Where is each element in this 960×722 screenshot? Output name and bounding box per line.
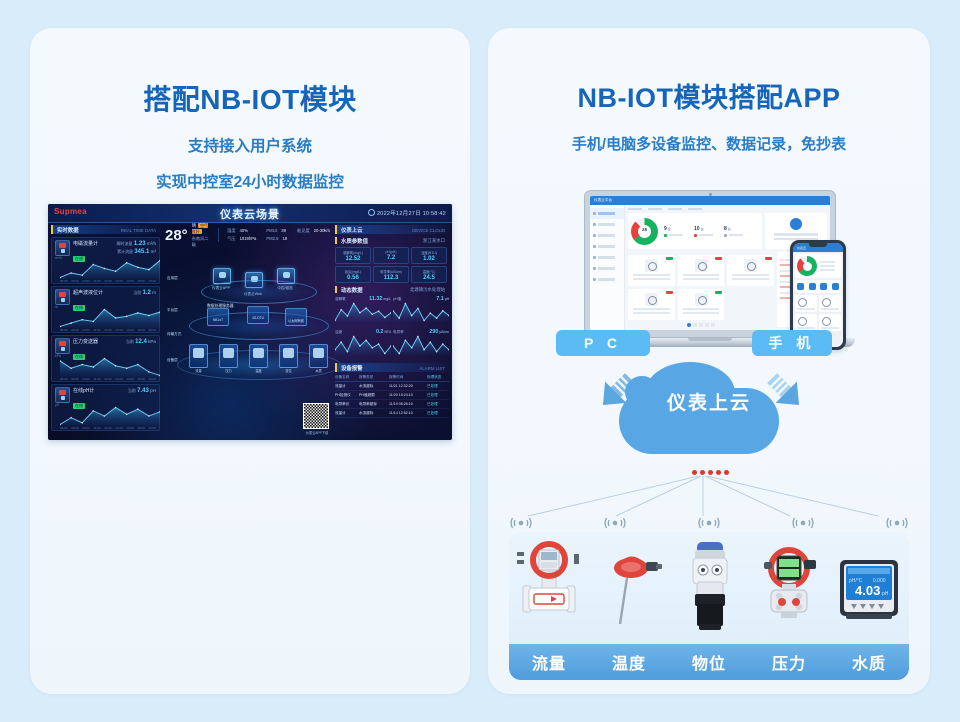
cloud-diagram: 仪表上云: [488, 364, 930, 514]
kpi-value: 9台: [664, 226, 683, 232]
dot: [692, 470, 697, 475]
table-cell: 流量计: [335, 411, 359, 416]
sidebar-item-label: [598, 245, 615, 247]
scene-field-device: 流量: [189, 344, 208, 368]
water-quality-reading: 4.03: [855, 583, 880, 598]
tab-placeholder[interactable]: [648, 208, 662, 210]
legend-label: [699, 234, 713, 236]
text-placeholder: [821, 327, 839, 329]
device-card[interactable]: 电磁流量计在线瞬时流量 1.23 m³/h累计流量 345.1 m³m³/h08…: [51, 237, 160, 284]
realtime-site: 北塘镇污水处理站: [410, 287, 445, 293]
weather-strip: 28° 晴空气良好 东南风二级 湿度40%气压1019hPaPM1039PM2.…: [165, 224, 330, 246]
table-cell: 已处理: [427, 402, 449, 407]
page-3[interactable]: [699, 323, 703, 327]
section-label: 仪表上云: [341, 226, 363, 234]
alarm-column-header: 报警时间: [389, 375, 427, 380]
table-cell: 已处理: [427, 411, 449, 416]
table-cell: 11/14 12:52:10: [389, 411, 427, 416]
scene-layer-label: 应用层: [167, 276, 178, 281]
device-thumbnail: [645, 259, 658, 272]
device-icon: [55, 240, 70, 256]
legend-swatch: [694, 234, 697, 237]
sidebar-item-label: [598, 267, 615, 269]
metric-value: 7.2: [374, 255, 408, 261]
phone-device-card[interactable]: [819, 314, 841, 331]
device-values: 瞬时流量 1.23 m³/h累计流量 345.1 m³: [117, 240, 156, 256]
phone-device-grid: [795, 295, 841, 331]
realtime-chart: 溶解氧11.32mg/L: [335, 296, 391, 327]
device-grid-row: [628, 255, 774, 286]
weather-metric: 能见度20-30km: [297, 227, 330, 235]
kpi-stat: 8台: [724, 226, 743, 237]
status-badge: [715, 291, 722, 294]
left-panel-subtitle-2: 实现中控室24小时数据监控: [30, 170, 470, 192]
alarm-column-header: 处理状态: [427, 375, 449, 380]
status-badge: [666, 291, 673, 294]
sidebar-item-label: [598, 256, 615, 258]
app-header-bar: 仪表云平台: [590, 196, 830, 205]
scene-chip-ethernet: 以太网有线: [285, 308, 307, 326]
page-5[interactable]: [711, 323, 715, 327]
water-quality-cell: 溶解氧(mg/L)12.52: [335, 247, 371, 264]
kpi-stats: 9台10台8台: [664, 226, 759, 237]
alarm-table-body: 流量计水流超标11/21 12:32:20已处理PH检测仪PH值超限11/20 …: [335, 382, 449, 418]
device-values: 当前 12.4 kPa: [126, 338, 156, 346]
device-illustration-flow: [509, 538, 589, 638]
section-label: 实时数据: [57, 226, 79, 234]
metric-label: 氨氮(mg/L): [336, 269, 370, 274]
right-panel-subtitle: 手机/电脑多设备监控、数据记录，免抄表: [488, 133, 930, 154]
device-label-temperature-sensor: 温度: [589, 650, 669, 674]
scene-field-device: 压力: [219, 344, 238, 368]
tab-placeholder[interactable]: [668, 208, 682, 210]
wifi-signal-icon: [510, 514, 532, 532]
device-card[interactable]: 压力变送器在线当前 12.4 kPakPa08:0009:0010:0011:0…: [51, 335, 160, 382]
qr-code: [303, 403, 329, 429]
device-illustrations: pH/°C 0.000 4.03 pH: [509, 538, 909, 638]
table-cell: PH值超限: [359, 393, 389, 398]
weather-metric: 湿度40%: [227, 227, 256, 235]
phone-notch: [809, 243, 827, 247]
metric-label: 电导率(uS/cm): [374, 269, 408, 274]
kpi-value: 8台: [724, 226, 743, 232]
alarm-column-header: 设备名称: [335, 375, 359, 380]
text-placeholder: [797, 327, 815, 329]
metric-value: 1.02: [412, 256, 446, 262]
water-quality-cell: pH(pH)7.2: [373, 247, 409, 264]
realtime-chart-row: 浊度0.2NTU电导率290μS/cm: [335, 329, 449, 360]
text-placeholder: [633, 278, 670, 280]
sidebar-item-0[interactable]: [590, 208, 624, 219]
water-quality-cell: 浊度(NTU)1.02: [411, 247, 447, 264]
weather-metric-group: 能见度20-30km: [297, 227, 330, 243]
left-feature-panel: 搭配NB-IOT模块 支持接入用户系统 实现中控室24小时数据监控 Supmea…: [30, 28, 470, 694]
pill-mobile[interactable]: 手 机: [752, 330, 832, 356]
alarm-table: 设备名称报警类型报警时间处理状态 流量计水流超标11/21 12:32:20已处…: [335, 375, 449, 418]
realtime-title: 动态数据: [341, 286, 363, 294]
dot: [708, 470, 713, 475]
section-sublabel: DEVICE CLOUD: [412, 228, 445, 233]
quick-action-icon[interactable]: [797, 283, 804, 290]
device-values: 当前 1.2 m: [133, 289, 156, 297]
device-card[interactable]: [678, 255, 725, 286]
device-trend-chart: kPa08:0009:0010:0011:0012:0013:0014:0015…: [55, 355, 156, 381]
text-placeholder: [797, 308, 815, 310]
left-panel-subtitle-1: 支持接入用户系统: [30, 134, 470, 156]
transport-label-2: 以太网有线: [287, 318, 305, 323]
water-quality-cell: 温度(℃)24.5: [411, 266, 447, 283]
metric-label: 浊度(NTU): [412, 250, 446, 255]
metric-value: 0.56: [336, 275, 370, 281]
weather-temperature: 28°: [165, 227, 188, 244]
alarm-column-header: 报警类型: [359, 375, 389, 380]
sidebar-item-5[interactable]: [590, 263, 624, 274]
weather-metrics: 湿度40%气压1019hPaPM1039PM2.518能见度20-30km: [227, 227, 330, 243]
text-placeholder: [774, 233, 818, 235]
sidebar-item-2[interactable]: [590, 230, 624, 241]
kpi-value: 10台: [694, 226, 713, 232]
architecture-scene: 仪表云APP 仪表云Web 中控/组态 数据处理服务器 NB-IoT 4G-DT…: [163, 246, 332, 440]
water-quality-header: 水质参数值 浙江某水口: [335, 237, 449, 244]
transport-label-1: 4G-DTU: [249, 316, 267, 320]
device-icon: [55, 387, 70, 403]
dashboard-center-column: 28° 晴空气良好 东南风二级 湿度40%气压1019hPaPM1039PM2.…: [163, 222, 332, 440]
realtime-chart-row: 溶解氧11.32mg/LpH值7.1pH: [335, 296, 449, 327]
sidebar-item-label: [598, 212, 615, 214]
table-cell: 电导率超标: [359, 402, 389, 407]
section-sublabel: REAL TIME DATA: [121, 228, 156, 233]
phone-legend: [820, 259, 835, 273]
alarm-title: 设备报警: [341, 364, 363, 372]
quick-action-icon[interactable]: [820, 283, 827, 290]
dot: [700, 470, 705, 475]
dashboard-left-column: 实时数据 REAL TIME DATA 电磁流量计在线瞬时流量 1.23 m³/…: [48, 222, 163, 440]
device-thumbnail: [695, 293, 708, 306]
sidebar-item-icon: [593, 256, 596, 259]
dashboard-timestamp: 2022年12月27日 10:58:42: [368, 209, 446, 217]
clock-icon: [368, 209, 375, 216]
water-quality-site: 浙江某水口: [423, 238, 445, 244]
text-placeholder: [633, 274, 670, 276]
legend-swatch: [664, 234, 667, 237]
divider: [218, 228, 219, 242]
sidebar-item-3[interactable]: [590, 241, 624, 252]
weather-metric-group: 湿度40%气压1019hPa: [227, 227, 256, 243]
table-cell: 已处理: [427, 384, 449, 389]
table-cell: 水流超标: [359, 411, 389, 416]
sidebar-item-icon: [593, 267, 596, 270]
device-name: 压力变送器: [73, 338, 126, 345]
section-header-realtime: 实时数据 REAL TIME DATA: [51, 225, 160, 234]
phone-kpi-card: [795, 254, 841, 278]
table-cell: PH检测仪: [335, 393, 359, 398]
sidebar-item-label: [598, 223, 615, 225]
device-illustration-temperature: [589, 538, 669, 638]
status-dots: [692, 470, 729, 475]
realtime-chart-grid: 溶解氧11.32mg/LpH值7.1pH浊度0.2NTU电导率290μS/cm: [335, 296, 449, 360]
page-2[interactable]: [693, 323, 697, 327]
phone-device-card[interactable]: [795, 314, 817, 331]
device-label-flow-meter: 流量: [509, 650, 589, 674]
water-quality-title: 水质参数值: [341, 237, 368, 245]
text-placeholder: [633, 312, 670, 314]
phone-status-donut-chart: [797, 256, 817, 276]
device-values: 当前 7.43 pH: [128, 387, 156, 395]
device-trend-chart: m³/h08:0009:0010:0011:0012:0013:0014:001…: [55, 257, 156, 283]
scene-layer-label: 设备层: [167, 358, 178, 363]
device-illustration-level: [669, 538, 749, 638]
avatar: [790, 218, 802, 230]
device-card[interactable]: [678, 289, 725, 320]
table-cell: 水流超标: [359, 384, 389, 389]
legend-item: [820, 269, 835, 271]
sidebar-item-6[interactable]: [590, 274, 624, 285]
phone-device-card[interactable]: [819, 295, 841, 312]
sidebar-item-label: [598, 234, 615, 236]
device-label-level-meter: 物位: [669, 650, 749, 674]
dot: [716, 470, 721, 475]
app-sidebar: [590, 205, 625, 330]
metric-label: 溶解氧(mg/L): [336, 250, 370, 255]
legend-swatch: [724, 234, 727, 237]
device-illustration-pressure: [749, 538, 829, 638]
page-root: 搭配NB-IOT模块 支持接入用户系统 实现中控室24小时数据监控 Supmea…: [0, 0, 960, 722]
tab-placeholder[interactable]: [628, 208, 642, 210]
device-label-water-quality-analyzer: 水质: [829, 650, 909, 674]
device-status-donut-chart: 28: [631, 218, 658, 245]
realtime-chart: 浊度0.2NTU: [335, 329, 391, 360]
device-name: 电磁流量计: [73, 240, 117, 247]
text-placeholder: [732, 278, 769, 280]
app-tab-bar[interactable]: [628, 208, 827, 210]
kpi-stat: 10台: [694, 226, 713, 237]
quick-action-icon[interactable]: [832, 283, 839, 290]
realtime-chart: 电导率290μS/cm: [393, 329, 449, 360]
table-row[interactable]: PH检测仪PH值超限11/20 15:24:10已处理: [335, 391, 449, 400]
weather-metric-group: PM1039PM2.518: [266, 227, 287, 243]
scene-platform-ring-top: [201, 280, 317, 304]
weather-metric: 气压1019hPa: [227, 235, 256, 243]
device-trend-chart: pH08:0009:0010:0011:0012:0013:0014:0015:…: [55, 404, 156, 430]
text-placeholder: [683, 312, 720, 314]
water-quality-cell: 电导率(uS/cm)112.3: [373, 266, 409, 283]
device-card-list: 电磁流量计在线瞬时流量 1.23 m³/h累计流量 345.1 m³m³/h08…: [51, 237, 160, 431]
dashboard-screenshot: Supmea 仪表云场景 2022年12月27日 10:58:42 实时数据 R…: [48, 204, 452, 440]
alarm-header: 设备报警 ALARM LIST: [335, 363, 449, 372]
dashboard-right-column: 仪表上云 DEVICE CLOUD 水质参数值 浙江某水口 溶解氧(mg/L)1…: [332, 222, 452, 440]
connection-rays: [488, 476, 930, 518]
device-illustration-water-quality: pH/°C 0.000 4.03 pH: [829, 538, 909, 638]
text-placeholder: [683, 278, 720, 280]
legend-label: [729, 234, 743, 236]
scene-layer-label: 平台层: [167, 308, 178, 313]
scene-layer-label: 传输方式: [167, 332, 181, 337]
device-icon: [55, 289, 70, 305]
text-placeholder: [683, 274, 720, 276]
sidebar-item-icon: [593, 234, 596, 237]
qr-code-label: 仪表云APP下载: [305, 430, 329, 435]
device-card[interactable]: [727, 255, 774, 286]
legend-label: [669, 234, 683, 236]
device-trend-chart: m08:0009:0010:0011:0012:0013:0014:0015:0…: [55, 306, 156, 332]
timestamp-text: 2022年12月27日 10:58:42: [377, 211, 446, 217]
scene-field-device: 水质: [309, 344, 328, 368]
water-quality-cell: 氨氮(mg/L)0.56: [335, 266, 371, 283]
text-placeholder: [732, 274, 769, 276]
sidebar-item-icon: [593, 278, 596, 281]
sidebar-item-icon: [593, 223, 596, 226]
tab-placeholder[interactable]: [688, 208, 702, 210]
table-cell: 流量计: [335, 384, 359, 389]
water-quality-unit: pH: [882, 591, 889, 597]
status-badge: [765, 257, 772, 260]
wifi-signal-icon: [604, 514, 626, 532]
legend-item: [820, 265, 835, 267]
sidebar-item-icon: [593, 245, 596, 248]
device-pill-row: P C 手 机: [488, 330, 930, 356]
device-card[interactable]: 在线pH计在线当前 7.43 pHpH08:0009:0010:0011:001…: [51, 384, 160, 431]
weather-metric: PM1039: [266, 227, 287, 235]
text-placeholder: [633, 308, 670, 310]
right-feature-panel: NB-IOT模块搭配APP 手机/电脑多设备监控、数据记录，免抄表 仪表云平台: [488, 28, 930, 694]
dashboard-body: 实时数据 REAL TIME DATA 电磁流量计在线瞬时流量 1.23 m³/…: [48, 222, 452, 440]
table-cell: 已处理: [427, 393, 449, 398]
device-label-bar: 流量温度物位压力水质: [509, 644, 909, 680]
cloud-label: 仪表上云: [488, 388, 930, 415]
metric-value: 112.3: [374, 275, 408, 281]
sidebar-item-icon: [593, 212, 596, 215]
metric-label: pH(pH): [374, 250, 408, 254]
text-placeholder: [821, 308, 839, 310]
device-card[interactable]: [628, 289, 675, 320]
app-header-title: 仪表云平台: [594, 198, 612, 203]
scene-chip-dtu: 4G-DTU: [247, 306, 269, 324]
alarm-sublabel: ALARM LIST: [419, 366, 445, 371]
wifi-signal-icon: [698, 514, 720, 532]
table-cell: 电导率仪: [335, 402, 359, 407]
device-thumbnail: [744, 259, 757, 272]
text-placeholder: [683, 308, 720, 310]
table-cell: 11/21 12:32:20: [389, 384, 427, 389]
device-category-strip: pH/°C 0.000 4.03 pH 流量温度物位压力水质: [509, 532, 909, 680]
realtime-chart: pH值7.1pH: [393, 296, 449, 327]
device-card[interactable]: [628, 255, 675, 286]
phone-quick-actions[interactable]: [795, 280, 841, 293]
page-1[interactable]: [687, 323, 691, 327]
sidebar-item-4[interactable]: [590, 252, 624, 263]
scene-field-device: 温度: [249, 344, 268, 368]
table-cell: 11/20 15:24:10: [389, 393, 427, 398]
weather-condition: 晴空气良好 东南风二级: [192, 223, 211, 248]
kpi-card: 28 9台10台8台: [628, 213, 762, 249]
device-thumbnail: [645, 293, 658, 306]
dashboard-header: Supmea 仪表云场景 2022年12月27日 10:58:42: [48, 204, 452, 223]
device-thumbnail: [695, 259, 708, 272]
water-quality-grid: 溶解氧(mg/L)12.52pH(pH)7.2浊度(NTU)1.02氨氮(mg/…: [335, 247, 449, 283]
metric-value: 24.5: [412, 275, 446, 281]
left-panel-title: 搭配NB-IOT模块: [30, 78, 470, 118]
device-name: 超声波液位计: [73, 289, 133, 296]
phone-device-card[interactable]: [795, 295, 817, 312]
realtime-header: 动态数据 北塘镇污水处理站: [335, 286, 449, 293]
weather-metric: PM2.518: [266, 235, 287, 243]
device-card[interactable]: 超声波液位计在线当前 1.2 mm08:0009:0010:0011:0012:…: [51, 286, 160, 333]
weather-condition-text: 晴: [192, 223, 196, 228]
scene-field-device: 液位: [279, 344, 298, 368]
right-panel-title: NB-IOT模块搭配APP: [488, 76, 930, 115]
status-badge: [666, 257, 673, 260]
device-label-pressure-transmitter: 压力: [749, 650, 829, 674]
pagination[interactable]: [628, 323, 774, 327]
sidebar-item-1[interactable]: [590, 219, 624, 230]
metric-label: 温度(℃): [412, 269, 446, 274]
wifi-signal-icon: [886, 514, 908, 532]
table-cell: 11/19 08:26:10: [389, 402, 427, 407]
table-row[interactable]: 电导率仪电导率超标11/19 08:26:10已处理: [335, 400, 449, 409]
dot: [724, 470, 729, 475]
device-name: 在线pH计: [73, 387, 128, 394]
device-icon: [55, 338, 70, 354]
kpi-stat: 9台: [664, 226, 683, 237]
legend-item: [820, 261, 835, 263]
alarm-table-header: 设备名称报警类型报警时间处理状态: [335, 375, 449, 382]
table-row[interactable]: 流量计水流超标11/14 12:52:10已处理: [335, 409, 449, 418]
donut-center-value: 28: [631, 227, 658, 232]
section-header-cloud: 仪表上云 DEVICE CLOUD: [335, 225, 449, 234]
quick-action-icon[interactable]: [809, 283, 816, 290]
laptop-camera-icon: [709, 193, 712, 196]
status-badge: [715, 257, 722, 260]
pill-pc[interactable]: P C: [556, 330, 650, 356]
page-4[interactable]: [705, 323, 709, 327]
wifi-signal-icon: [792, 514, 814, 532]
scene-chip-nbiot: NB-IoT: [207, 308, 229, 326]
metric-value: 12.52: [336, 256, 370, 262]
table-row[interactable]: 流量计水流超标11/21 12:32:20已处理: [335, 382, 449, 391]
transport-label-0: NB-IoT: [209, 318, 227, 322]
sidebar-item-label: [598, 278, 615, 280]
device-grid-row: [628, 289, 774, 320]
